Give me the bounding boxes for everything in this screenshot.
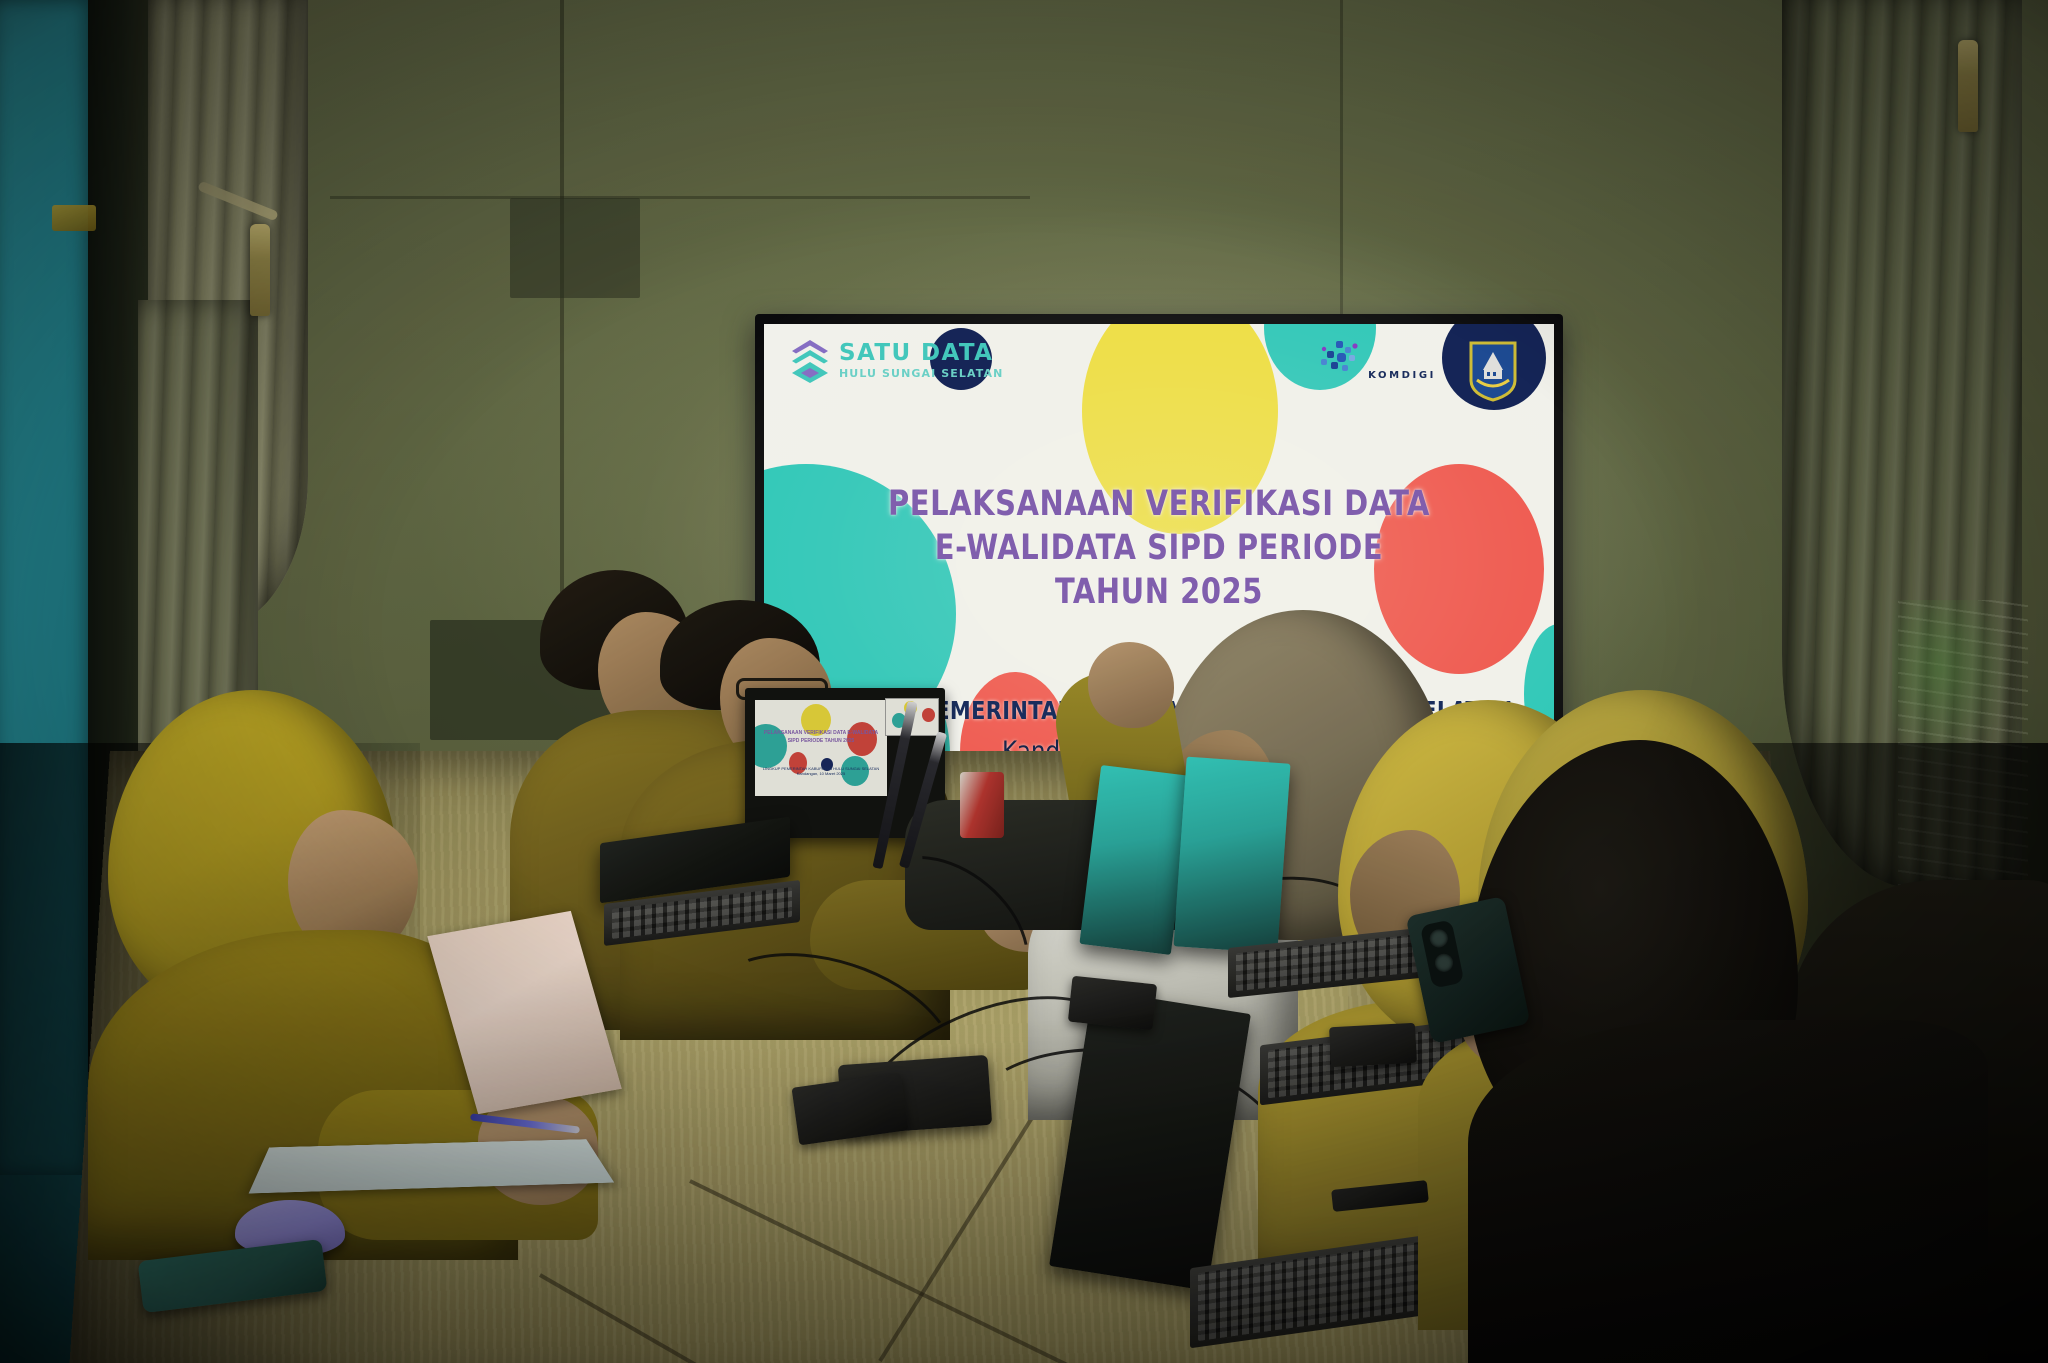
satu-data-logo: SATU DATA HULU SUNGAI SELATAN (788, 338, 1003, 384)
raised-hand (1088, 642, 1174, 728)
phone-camera-icon (1420, 919, 1465, 988)
meeting-room-photo: SATU DATA HULU SUNGAI SELATAN (0, 0, 2048, 1363)
laptop-left[interactable] (600, 830, 810, 950)
satu-data-mark-icon (788, 338, 832, 384)
wall-fixture-box (510, 198, 640, 298)
logo-line-2: HULU SUNGAI SELATAN (839, 367, 1003, 380)
wall-panel-line-horizontal (330, 196, 1030, 199)
curtain-tassel-left (250, 224, 270, 316)
presenter-mini-slide: PELAKSANAAN VERIFIKASI DATA E-WALIDATA S… (755, 700, 887, 796)
laptop-front-large-screen (1049, 989, 1251, 1291)
logo-line-1: SATU DATA (839, 340, 993, 366)
komdigi-dots-icon (1318, 365, 1368, 382)
soda-can (960, 772, 1004, 838)
thumb-blob-coral (922, 708, 935, 722)
slide-title-line-1: PELAKSANAAN VERIFIKASI DATA (796, 482, 1523, 526)
uniform-shoulder-patch (52, 205, 96, 231)
presenter-mini-subtitle: LINGKUP PEMERINTAH KABUPATEN HULU SUNGAI… (757, 766, 885, 776)
satu-data-wordmark: SATU DATA HULU SUNGAI SELATAN (839, 342, 1003, 381)
power-adapter-2 (1068, 976, 1157, 1031)
wall-seam-vertical (560, 0, 564, 660)
participant-silhouette-shoulder (1468, 1020, 1988, 1363)
komdigi-logo: KOMDIGI (1318, 340, 1436, 383)
power-adapter-3 (1329, 1023, 1417, 1067)
curtain-tassel-right (1958, 40, 1978, 132)
presenter-mini-title: PELAKSANAAN VERIFIKASI DATA E-WALIDATA S… (759, 730, 883, 745)
slide-title-line-2: E-WALIDATA SIPD PERIODE (796, 526, 1523, 570)
komdigi-label: KOMDIGI (1368, 370, 1436, 381)
wall-panel-line-upper (1340, 0, 1343, 330)
regency-crest-icon (1468, 340, 1518, 402)
slide-title: PELAKSANAAN VERIFIKASI DATA E-WALIDATA S… (796, 482, 1523, 614)
